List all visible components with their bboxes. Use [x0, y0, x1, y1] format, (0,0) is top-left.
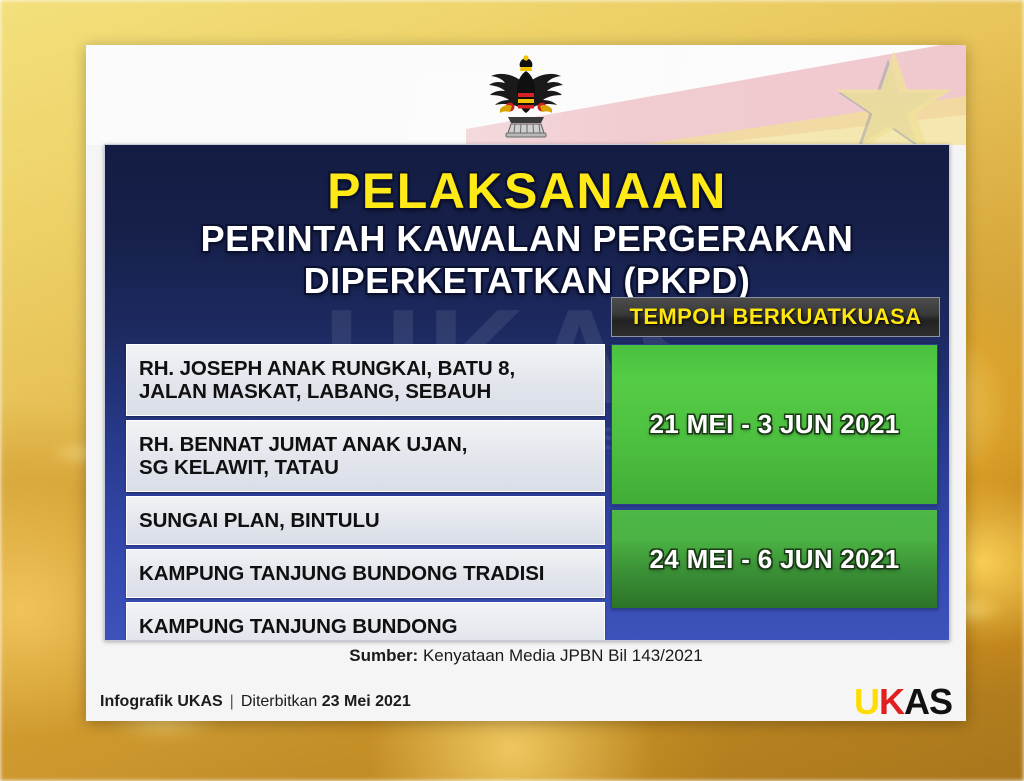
source-value: Kenyataan Media JPBN Bil 143/2021	[423, 646, 703, 665]
footer-published-date: 23 Mei 2021	[322, 693, 411, 710]
footer-credit: Infografik UKAS	[100, 693, 223, 710]
footer-published-label: Diterbitkan	[241, 693, 317, 710]
table-row: RH. JOSEPH ANAK RUNGKAI, BATU 8, JALAN M…	[126, 344, 605, 416]
sarawak-state-crest-icon	[486, 55, 566, 141]
page-title: PELAKSANAAN	[105, 165, 949, 217]
page-subtitle-line2: DIPERKETATKAN (PKPD)	[105, 261, 949, 301]
footer: Infografik UKAS|Diterbitkan 23 Mei 2021 …	[86, 683, 966, 721]
table-row: KAMPUNG TANJUNG BUNDONG TRADISI	[126, 549, 605, 598]
location-text: RH. JOSEPH ANAK RUNGKAI, BATU 8, JALAN M…	[139, 357, 515, 404]
period-column: 21 MEI - 3 JUN 2021 24 MEI - 6 JUN 2021	[611, 344, 938, 613]
ukas-logo-letter-u: U	[854, 684, 879, 720]
period-text: 21 MEI - 3 JUN 2021	[650, 409, 900, 440]
poster-card: UKAS UNIT KOMUNIKASI AWAM PELAKSANAAN PE…	[86, 45, 966, 721]
table-header-tempoh-berkuatkuasa: TEMPOH BERKUATKUASA	[611, 297, 940, 337]
period-cell: 21 MEI - 3 JUN 2021	[611, 344, 938, 505]
source-label: Sumber:	[349, 646, 418, 665]
table-header-label: TEMPOH BERKUATKUASA	[630, 304, 922, 330]
location-text: RH. BENNAT JUMAT ANAK UJAN, SG KELAWIT, …	[139, 433, 467, 480]
location-text: KAMPUNG TANJUNG BUNDONG TRADISI	[139, 562, 544, 585]
ukas-logo: UKAS	[854, 684, 952, 720]
table-row: KAMPUNG TANJUNG BUNDONG FASA 1 DAN 2	[126, 602, 605, 641]
location-text: KAMPUNG TANJUNG BUNDONG FASA 1 DAN 2	[139, 615, 457, 641]
ukas-logo-letter-a: A	[904, 684, 929, 720]
table-row: SUNGAI PLAN, BINTULU	[126, 496, 605, 545]
main-blue-panel: UKAS UNIT KOMUNIKASI AWAM PELAKSANAAN PE…	[104, 144, 950, 641]
footer-credit-block: Infografik UKAS|Diterbitkan 23 Mei 2021	[100, 693, 411, 711]
infographic-poster: UKAS UNIT KOMUNIKASI AWAM PELAKSANAAN PE…	[0, 0, 1024, 781]
period-text: 24 MEI - 6 JUN 2021	[650, 544, 900, 575]
period-cell: 24 MEI - 6 JUN 2021	[611, 509, 938, 609]
poster-title-block: PELAKSANAAN PERINTAH KAWALAN PERGERAKAN …	[105, 165, 949, 300]
location-text: SUNGAI PLAN, BINTULU	[139, 509, 380, 532]
table-row: RH. BENNAT JUMAT ANAK UJAN, SG KELAWIT, …	[126, 420, 605, 492]
ukas-logo-letter-s: S	[929, 684, 952, 720]
footer-separator: |	[230, 693, 234, 710]
source-line: Sumber: Kenyataan Media JPBN Bil 143/202…	[86, 646, 966, 666]
page-subtitle-line1: PERINTAH KAWALAN PERGERAKAN	[105, 219, 949, 259]
ukas-logo-letter-k: K	[879, 684, 904, 720]
location-column: RH. JOSEPH ANAK RUNGKAI, BATU 8, JALAN M…	[126, 344, 605, 641]
